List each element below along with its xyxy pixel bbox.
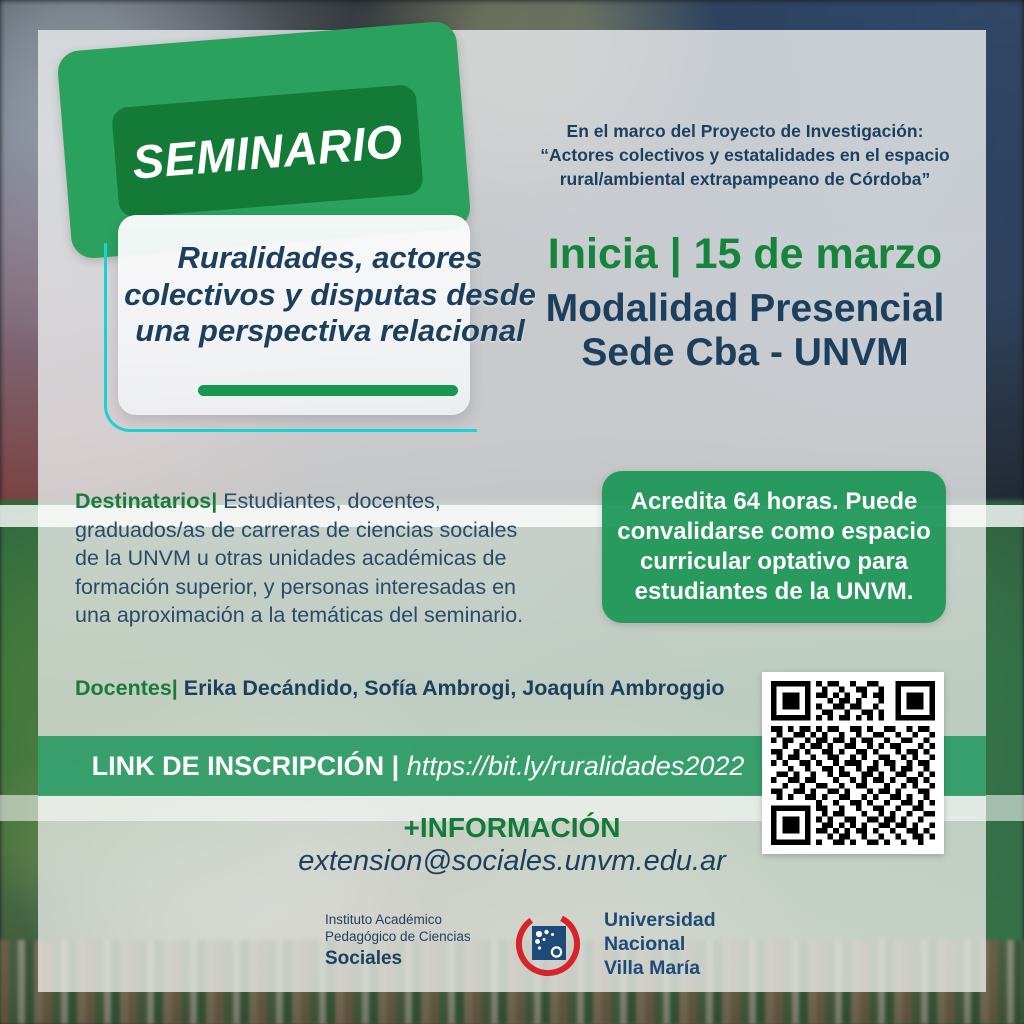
university-name: Universidad Nacional Villa María: [604, 909, 824, 980]
teachers-label: Docentes: [75, 676, 172, 700]
project-line-3: rural/ambiental extrapampeano de Córdoba…: [510, 168, 980, 192]
accreditation-box: Acredita 64 horas. Puede convalidarse co…: [602, 471, 946, 623]
university-line-2: Nacional: [604, 933, 824, 957]
venue-text: Sede Cba - UNVM: [510, 331, 980, 375]
registration-separator: |: [384, 751, 407, 781]
project-line-2: “Actores colectivos y estatalidades en e…: [510, 144, 980, 168]
seminar-title-line-2: colectivos y disputas desde: [110, 277, 550, 314]
institute-line-1: Instituto Académico: [325, 912, 442, 927]
seminar-title: Ruralidades, actores colectivos y disput…: [110, 240, 550, 350]
registration-url[interactable]: https://bit.ly/ruralidades2022: [407, 751, 745, 781]
project-line-1: En el marco del Proyecto de Investigació…: [510, 120, 980, 144]
institute-line-3: Sociales: [325, 947, 515, 971]
qr-code[interactable]: [762, 672, 944, 854]
project-framing-text: En el marco del Proyecto de Investigació…: [510, 120, 980, 191]
seminar-title-line-1: Ruralidades, actores: [110, 240, 550, 277]
seminario-badge-label: SEMINARIO: [131, 117, 405, 186]
teachers-names: Erika Decándido, Sofía Ambrogi, Joaquín …: [178, 676, 725, 700]
title-underline-rule: [198, 385, 458, 396]
teachers-line: Docentes| Erika Decándido, Sofía Ambrogi…: [75, 676, 795, 701]
university-line-1: Universidad: [604, 909, 824, 933]
qr-code-icon: [771, 681, 935, 845]
institute-line-2: Pedagógico de Ciencias: [325, 929, 471, 944]
institute-logo-text: Instituto Académico Pedagógico de Cienci…: [325, 912, 515, 971]
more-info-title: +INFORMACIÓN: [262, 812, 762, 844]
modality-text: Modalidad Presencial: [510, 287, 980, 331]
contact-email[interactable]: extension@sociales.unvm.edu.ar: [262, 845, 762, 878]
registration-label: LINK DE INSCRIPCIÓN: [92, 751, 385, 781]
accreditation-text: Acredita 64 horas. Puede convalidarse co…: [602, 487, 946, 607]
audience-paragraph: Destinatarios| Estudiantes, docentes, gr…: [75, 487, 545, 630]
start-date: Inicia | 15 de marzo: [510, 232, 980, 277]
audience-label: Destinatarios: [75, 489, 211, 513]
modality-block: Modalidad Presencial Sede Cba - UNVM: [510, 287, 980, 374]
registration-band-inner: LINK DE INSCRIPCIÓN | https://bit.ly/rur…: [38, 751, 798, 782]
university-line-3: Villa María: [604, 957, 824, 981]
unvm-logo-icon: [512, 908, 584, 980]
seminar-title-line-3: una perspectiva relacional: [110, 313, 550, 350]
poster-root: SEMINARIO Ruralidades, actores colectivo…: [0, 0, 1024, 1024]
